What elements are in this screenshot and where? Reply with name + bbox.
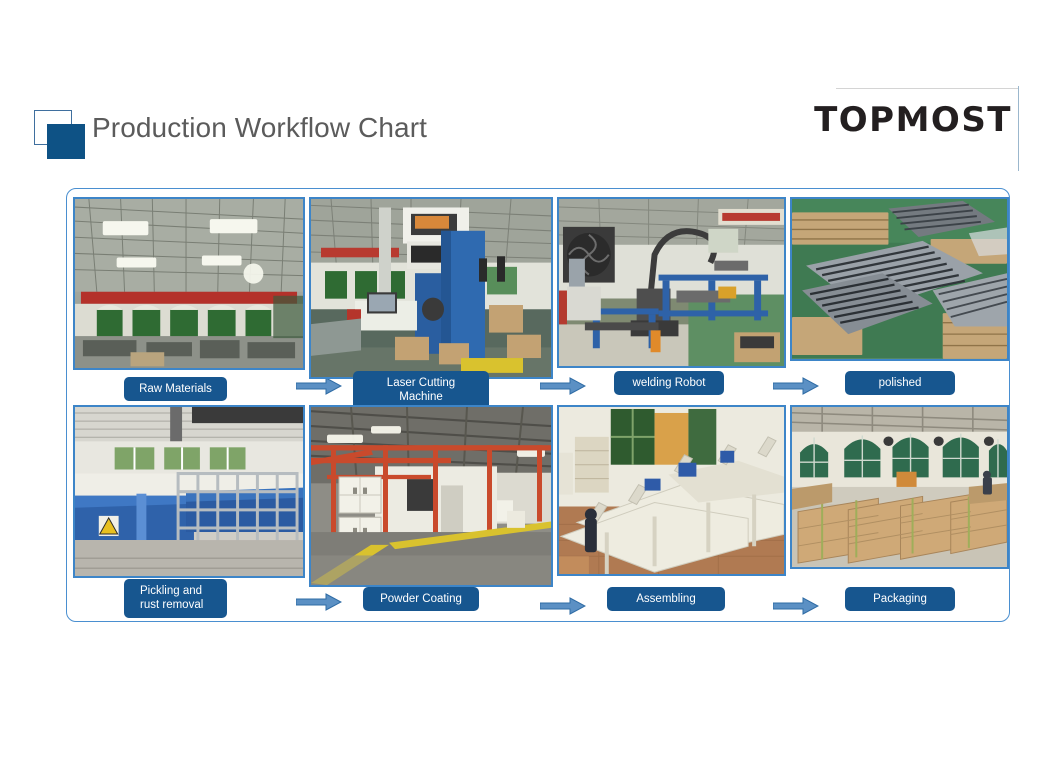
photo-powder-coating-line <box>309 405 553 587</box>
photo-packaging-cartons <box>790 405 1009 569</box>
brand-logo: TOPMOST <box>814 103 1012 137</box>
arrow-right-icon-2 <box>540 377 586 395</box>
label-assembling: Assembling <box>607 587 725 611</box>
workflow-step-assembling[interactable]: Assembling <box>557 405 786 576</box>
photo-raw-materials <box>73 197 305 370</box>
workflow-row-1: Raw Materials <box>67 191 1011 399</box>
label-raw-materials: Raw Materials <box>124 377 227 401</box>
workflow-step-laser-cutting[interactable]: Laser Cutting Machine <box>309 197 553 379</box>
workflow-step-raw-materials[interactable]: Raw Materials <box>73 197 305 370</box>
workflow-frame: Raw Materials <box>66 188 1010 622</box>
brand-wordmark: TOPMOST <box>814 103 1012 137</box>
arrow-right-icon-5 <box>540 597 586 615</box>
photo-assembling-workbenches <box>557 405 786 576</box>
workflow-step-packaging[interactable]: Packaging <box>790 405 1009 569</box>
arrow-right-icon-4 <box>296 593 342 611</box>
label-polished: polished <box>845 371 955 395</box>
label-packaging: Packaging <box>845 587 955 611</box>
title-decoration-squares <box>34 110 88 160</box>
arrow-right-icon-3 <box>773 377 819 395</box>
deco-square-solid <box>47 124 85 159</box>
photo-polished-parts <box>790 197 1009 361</box>
workflow-step-pickling[interactable]: Pickling and rust removal <box>73 405 305 578</box>
page-title: Production Workflow Chart <box>92 112 427 144</box>
workflow-step-welding-robot[interactable]: welding Robot <box>557 197 786 368</box>
label-welding-robot: welding Robot <box>614 371 724 395</box>
photo-welding-robot <box>557 197 786 368</box>
header-divider <box>836 88 1018 89</box>
label-powder-coating: Powder Coating <box>363 587 479 611</box>
photo-pickling-tanks <box>73 405 305 578</box>
brand-vertical-rule <box>1018 86 1019 171</box>
arrow-right-icon-1 <box>296 377 342 395</box>
workflow-step-powder-coating[interactable]: Powder Coating <box>309 405 553 587</box>
brand-wedge-icon <box>904 105 922 116</box>
workflow-step-polished[interactable]: polished <box>790 197 1009 361</box>
page-header: Production Workflow Chart TOPMOST <box>0 0 1060 175</box>
workflow-row-2: Pickling and rust removal <box>67 399 1011 607</box>
arrow-right-icon-6 <box>773 597 819 615</box>
label-pickling: Pickling and rust removal <box>124 579 227 618</box>
photo-laser-cutting-machine <box>309 197 553 379</box>
